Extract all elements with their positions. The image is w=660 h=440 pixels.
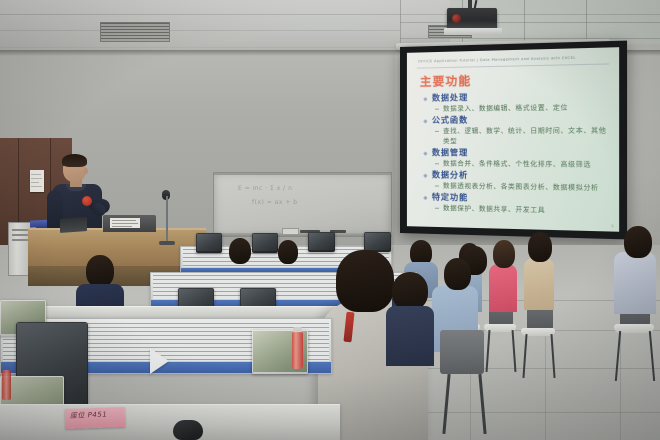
student-head <box>86 255 114 287</box>
whiteboard-writing: E = mc · Σ x / n <box>238 185 292 192</box>
whiteboard-writing: f(x) = ax + b <box>252 199 298 206</box>
slide-section-detail: 查找、逻辑、数学、统计、日期时间、文本、其他类型 <box>423 125 613 146</box>
slide-section: 数据管理 数据合并、条件格式、个性化排序、高级筛选 <box>423 147 613 170</box>
slide-section-heading: 公式函数 <box>423 113 613 126</box>
drink-bottle <box>292 332 303 369</box>
instructor-ear <box>84 168 88 174</box>
student-torso <box>489 264 517 312</box>
ceiling-grid-line <box>400 22 660 23</box>
ceiling-grid-line <box>400 38 660 39</box>
student-head <box>528 232 552 262</box>
projector-mount-plate <box>444 28 502 35</box>
drink-bottle-small <box>2 370 11 400</box>
whiteboard-eraser <box>282 228 299 235</box>
student-head <box>278 240 298 264</box>
foreground-desk-surface <box>0 404 340 440</box>
student-torso <box>614 252 656 314</box>
instructor-hair <box>62 154 87 167</box>
slide-page-number: 5 <box>611 224 613 228</box>
classroom-photo: E = mc · Σ x / n f(x) = ax + b OFFICE Ap… <box>0 0 660 440</box>
chair-back <box>440 330 484 374</box>
slide-title: 主要功能 <box>420 73 472 90</box>
projection-screen: OFFICE Application Tutorial | Data Manag… <box>400 41 627 240</box>
microphone-base <box>159 241 175 245</box>
student-torso <box>386 306 434 366</box>
microphone-stand <box>166 196 168 244</box>
ceiling-seam <box>0 30 400 31</box>
slide-section-detail: 数据保护、数据共享、开发工具 <box>423 202 613 216</box>
podium-laptop <box>60 217 87 233</box>
ceiling-seam <box>0 14 660 15</box>
paper-note-on-divider <box>150 348 169 374</box>
student-torso <box>524 258 554 310</box>
slide-section: 公式函数 查找、逻辑、数学、统计、日期时间、文本、其他类型 <box>423 113 613 146</box>
student-head <box>624 226 652 258</box>
student-head <box>493 240 515 268</box>
student-monitor <box>308 232 335 252</box>
student-monitor <box>252 233 278 253</box>
slide-section: 特定功能 数据保护、数据共享、开发工具 <box>423 191 613 216</box>
student-monitor <box>364 232 391 252</box>
shirt-logo-icon <box>82 196 92 206</box>
student-monitor <box>196 233 222 253</box>
slide-body: 数据处理 数据录入、数据编辑、格式设置、定位 公式函数 查找、逻辑、数学、统计、… <box>423 90 613 218</box>
slide-section: 数据分析 数据透视表分析、各类图表分析、数据模拟分析 <box>423 169 613 193</box>
podium-paper <box>110 218 140 228</box>
slide-section-detail: 数据录入、数据编辑、格式设置、定位 <box>423 102 613 114</box>
foreground-student-head <box>336 250 394 312</box>
desk-label-card: 座位 P451 <box>65 407 126 429</box>
desk-label-text: 座位 P451 <box>70 410 108 421</box>
student-head <box>392 272 428 310</box>
whiteboard-frame <box>214 173 391 175</box>
projector-lens-icon <box>452 14 461 23</box>
projected-slide: OFFICE Application Tutorial | Data Manag… <box>407 47 619 232</box>
ceiling-vent <box>100 22 170 42</box>
slide-section: 数据处理 数据录入、数据编辑、格式设置、定位 <box>423 90 613 114</box>
wall-notice-paper <box>30 170 44 192</box>
whiteboard: E = mc · Σ x / n f(x) = ax + b <box>213 172 392 237</box>
student-head <box>229 238 251 264</box>
slide-section-detail: 数据合并、条件格式、个性化排序、高级筛选 <box>423 158 613 170</box>
student-head <box>444 258 471 290</box>
computer-mouse <box>173 420 203 440</box>
